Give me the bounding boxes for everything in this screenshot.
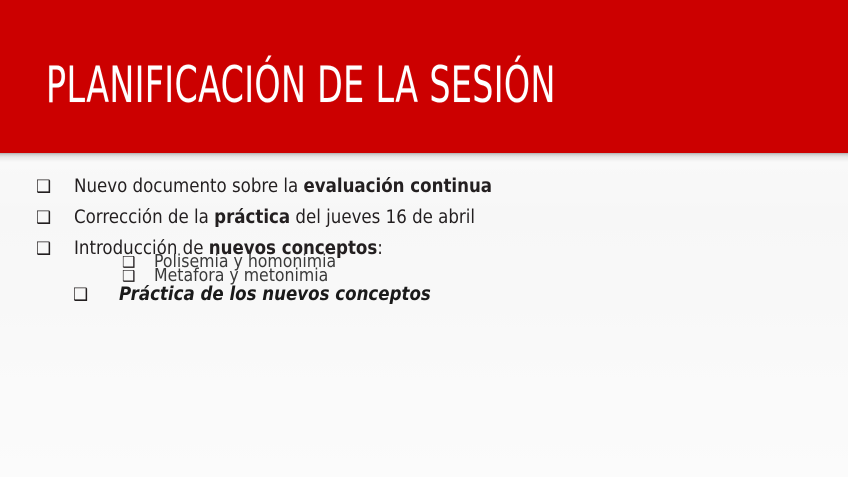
list-item: ❑ Corrección de la práctica del jueves 1… [36,207,475,229]
list-item-text-plain: Nuevo documento sobre la [74,176,304,197]
list-item-text-bold: evaluación continua [304,176,493,197]
bullet-marker-icon: ❑ [36,207,74,229]
list-item-text-plain: Corrección de la [74,207,214,228]
title-banner: PLANIFICACIÓN DE LA SESIÓN [0,0,848,153]
list-item-text-bold: práctica [214,207,290,228]
list-item-text-tail: : [377,238,383,259]
bullet-marker-icon: ❑ [36,176,74,198]
list-item-text-tail: del jueves 16 de abril [290,207,475,228]
list-item: ❑ Nuevo documento sobre la evaluación co… [36,176,492,198]
list-item-label: Nuevo documento sobre la evaluación cont… [74,176,492,198]
page-title: PLANIFICACIÓN DE LA SESIÓN [46,56,556,114]
bullet-list: ❑ Nuevo documento sobre la evaluación co… [0,153,848,477]
bullet-marker-icon: ❑ [36,238,74,260]
list-item-label: Metafora y metonimia [154,266,328,286]
list-item: ❑ Metafora y metonimia [122,266,328,286]
list-item-label: Práctica de los nuevos conceptos [119,284,431,306]
list-item-emphasized: ❑ Práctica de los nuevos conceptos [73,284,431,306]
bullet-marker-icon: ❑ [73,284,119,306]
slide: PLANIFICACIÓN DE LA SESIÓN ❑ Nuevo docum… [0,0,848,477]
list-item-label: Corrección de la práctica del jueves 16 … [74,207,475,229]
bullet-marker-icon: ❑ [122,266,154,286]
